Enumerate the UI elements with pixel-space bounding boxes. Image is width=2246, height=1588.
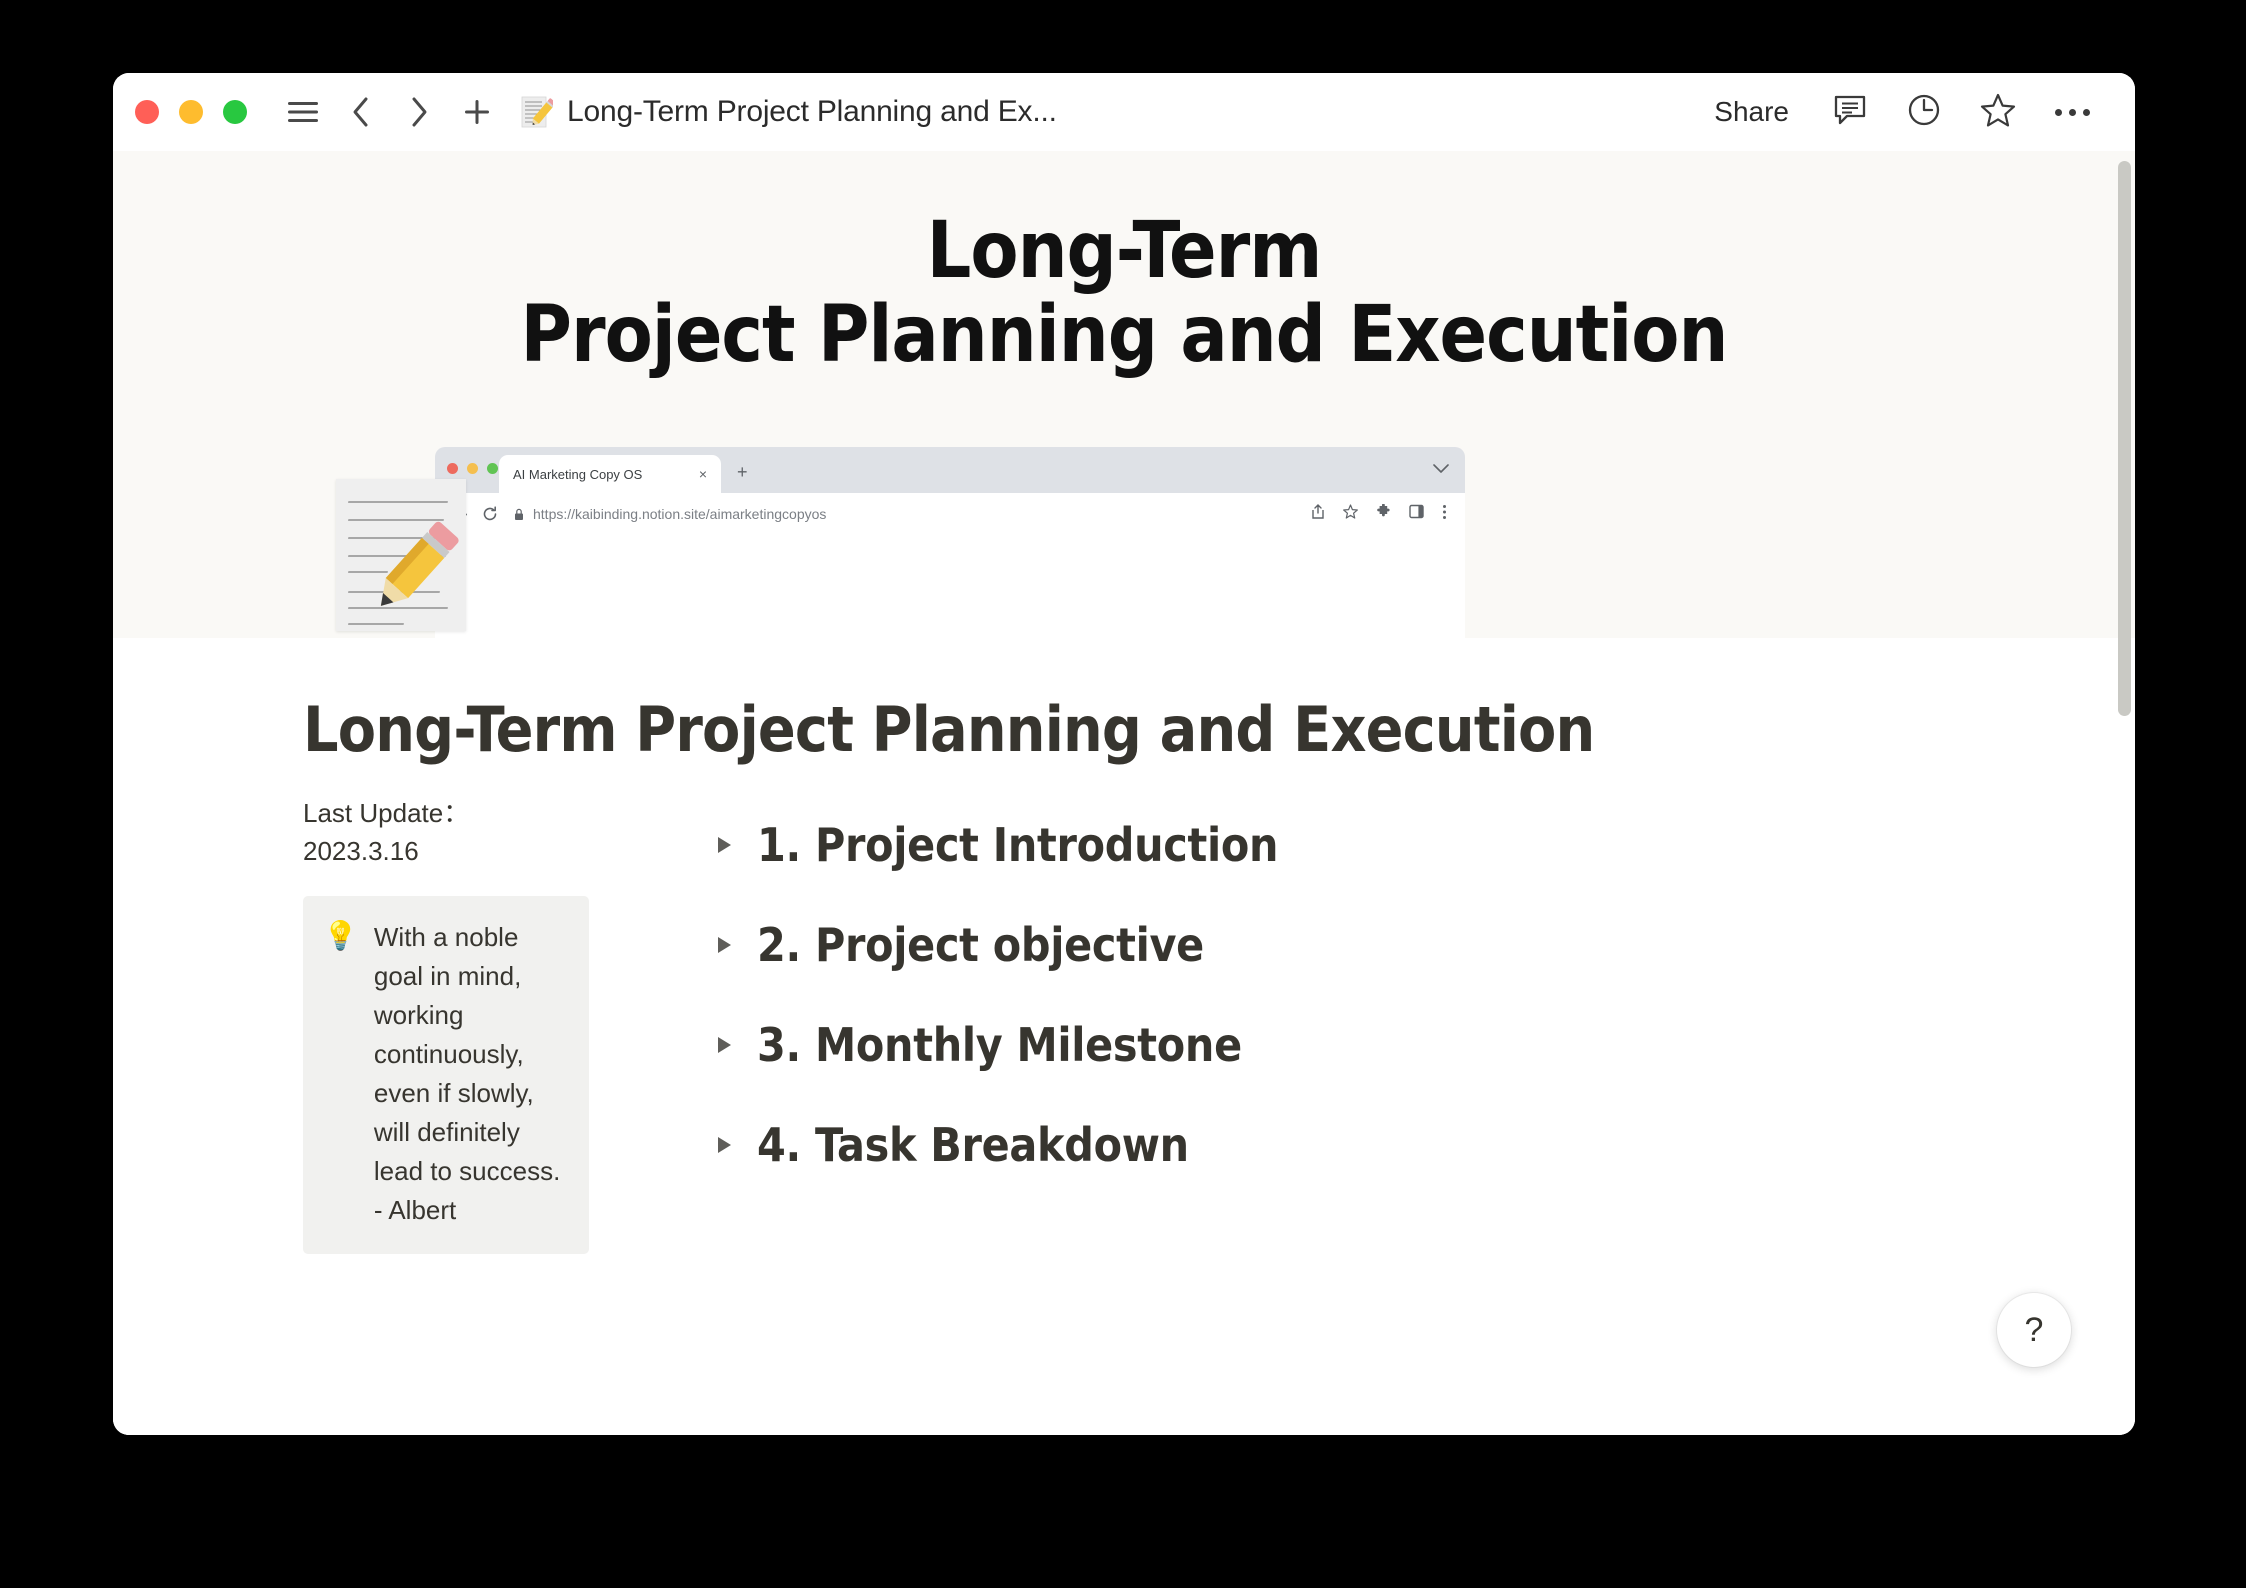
browser-tab: AI Marketing Copy OS × (499, 455, 721, 493)
chevron-right-icon (408, 96, 430, 128)
plus-icon (463, 98, 491, 126)
new-page-button[interactable] (451, 86, 503, 138)
toggle-collapsed-arrow-icon[interactable] (713, 934, 735, 956)
hamburger-menu-icon (287, 100, 319, 124)
maximize-window-button[interactable] (223, 100, 247, 124)
share-button[interactable]: Share (1704, 90, 1799, 134)
nav-button-group (277, 86, 503, 138)
traffic-lights (135, 100, 247, 124)
browser-viewport (435, 535, 1465, 638)
callout-text: With a noble goal in mind, working conti… (374, 918, 569, 1230)
browser-side-panel-icon (1409, 504, 1424, 524)
page-columns: Last Update： 2023.3.16 💡 With a noble go… (303, 795, 2003, 1254)
browser-tab-label: AI Marketing Copy OS (513, 467, 642, 482)
browser-omnibox: https://kaibinding.notion.site/aimarketi… (514, 506, 1311, 522)
back-button[interactable] (335, 86, 387, 138)
toggle-label-2: 2. Project objective (757, 918, 1204, 972)
browser-tab-close-icon: × (699, 467, 707, 481)
close-window-button[interactable] (135, 100, 159, 124)
handwritten-note-artwork (336, 479, 466, 631)
last-update-label: Last Update： (303, 798, 469, 828)
last-update-date: 2023.3.16 (303, 833, 593, 871)
history-button[interactable] (1901, 89, 1947, 135)
document-title-text: Long-Term Project Planning and Ex... (567, 95, 1057, 129)
cover-title-line-2: Project Planning and Execution (113, 293, 2135, 377)
comment-icon (1833, 94, 1867, 131)
toggle-list: 1. Project Introduction 2. Project objec… (713, 795, 2003, 1195)
browser-extensions-puzzle-icon (1376, 504, 1391, 524)
toggle-item-3[interactable]: 3. Monthly Milestone (713, 995, 2003, 1095)
title-bar: Long-Term Project Planning and Ex... Sha… (113, 73, 2135, 151)
titlebar-actions: Share (1704, 89, 2095, 135)
browser-toolbar: https://kaibinding.notion.site/aimarketi… (435, 493, 1465, 535)
toggle-label-3: 3. Monthly Milestone (757, 1018, 1242, 1072)
right-column: 1. Project Introduction 2. Project objec… (593, 795, 2003, 1254)
chevron-down-icon (1433, 461, 1449, 479)
document-title-group[interactable]: Long-Term Project Planning and Ex... (519, 95, 1057, 129)
vertical-scrollbar-thumb[interactable] (2118, 161, 2131, 716)
browser-bookmark-star-icon (1343, 504, 1358, 524)
cover-title-line-1: Long-Term (113, 209, 2135, 293)
browser-new-tab-icon: + (737, 463, 748, 481)
lock-icon (514, 508, 524, 521)
toggle-collapsed-arrow-icon[interactable] (713, 834, 735, 856)
cover-browser-screenshot: AI Marketing Copy OS × + (435, 429, 1465, 638)
toggle-item-2[interactable]: 2. Project objective (713, 895, 2003, 995)
clock-history-icon (1907, 93, 1941, 132)
left-column: Last Update： 2023.3.16 💡 With a noble go… (303, 795, 593, 1254)
browser-close-dot (447, 463, 458, 474)
browser-traffic-lights (447, 463, 498, 474)
page-cover[interactable]: Long-Term Project Planning and Execution… (113, 151, 2135, 638)
forward-button[interactable] (393, 86, 445, 138)
toggle-collapsed-arrow-icon[interactable] (713, 1134, 735, 1156)
toggle-label-1: 1. Project Introduction (757, 818, 1278, 872)
browser-maximize-dot (487, 463, 498, 474)
browser-share-icon (1311, 504, 1325, 525)
quote-callout[interactable]: 💡 With a noble goal in mind, working con… (303, 896, 589, 1254)
browser-minimize-dot (467, 463, 478, 474)
star-favorite-icon (1980, 93, 2016, 132)
browser-toolbar-actions (1311, 504, 1447, 525)
vertical-scrollbar-track[interactable] (2115, 151, 2135, 1435)
toggle-item-4[interactable]: 4. Task Breakdown (713, 1095, 2003, 1195)
help-button[interactable]: ? (1997, 1293, 2071, 1367)
more-options-icon (2055, 109, 2090, 116)
page-title[interactable]: Long-Term Project Planning and Execution (303, 693, 1594, 766)
toggle-label-4: 4. Task Breakdown (757, 1118, 1189, 1172)
browser-reload-icon (482, 506, 498, 522)
chevron-left-icon (350, 96, 372, 128)
memo-icon (519, 95, 553, 129)
app-window: Long-Term Project Planning and Ex... Sha… (113, 73, 2135, 1435)
lightbulb-icon: 💡 (323, 918, 358, 953)
cover-title: Long-Term Project Planning and Execution (113, 209, 2135, 377)
toggle-item-1[interactable]: 1. Project Introduction (713, 795, 2003, 895)
browser-menu-kebab-icon (1442, 504, 1447, 525)
hamburger-menu-button[interactable] (277, 86, 329, 138)
toggle-collapsed-arrow-icon[interactable] (713, 1034, 735, 1056)
browser-url-text: https://kaibinding.notion.site/aimarketi… (533, 506, 826, 522)
page-body: Long-Term Project Planning and Execution… (113, 638, 2135, 1435)
page-content-area: Long-Term Project Planning and Execution… (113, 151, 2135, 1435)
screen-root: Long-Term Project Planning and Ex... Sha… (0, 0, 2246, 1588)
favorite-button[interactable] (1975, 89, 2021, 135)
browser-tabstrip: AI Marketing Copy OS × + (435, 447, 1465, 493)
minimize-window-button[interactable] (179, 100, 203, 124)
comment-button[interactable] (1827, 89, 1873, 135)
last-update-block: Last Update： 2023.3.16 (303, 795, 593, 870)
more-options-button[interactable] (2049, 89, 2095, 135)
